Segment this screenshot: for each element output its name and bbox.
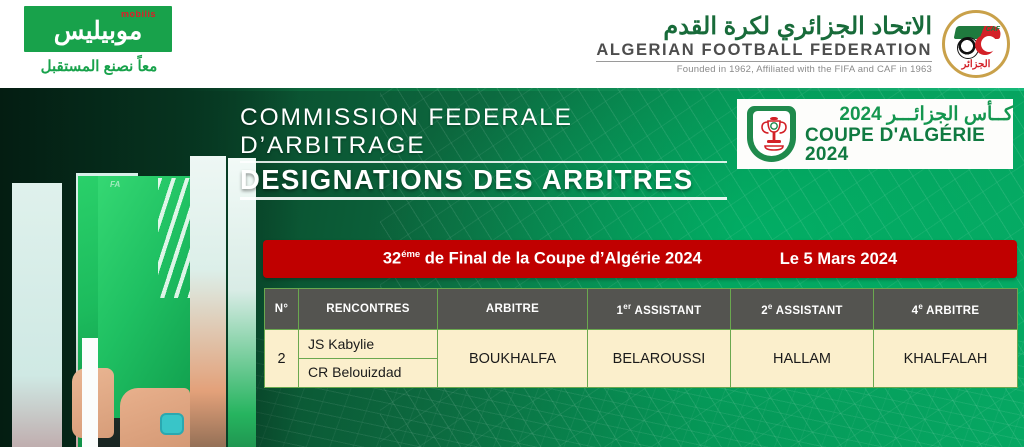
federation-header: الاتحاد الجزائري لكرة القدم ALGERIAN FOO… [596,4,1010,84]
crest-caf-label: CAF [986,26,1000,33]
federation-founded-line: Founded in 1962, Affiliated with the FIF… [596,64,932,75]
banner-titles: COMMISSION FEDERALE D’ARBITRAGE DESIGNAT… [240,104,740,200]
crest-arabic-label: الجزائر [945,59,1007,70]
federation-crest-icon: CAF الجزائر [942,10,1010,78]
crescent-star-icon [975,35,995,55]
commission-title: COMMISSION FEDERALE D’ARBITRAGE [240,104,740,160]
column-header-fourth-official: 4e ARBITRE [874,289,1018,330]
cup-logo-text: كــأس الجزائـــر 2024 COUPE D'ALGÉRIE 20… [805,105,1013,164]
round-number: 32 [383,250,401,268]
photo-jersey-badge: FA [110,180,120,189]
column-header-assistant1: 1er ASSISTANT [588,289,731,330]
table-header: N° RENCONTRES ARBITRE 1er ASSISTANT 2e A… [265,289,1018,330]
table-body: 2 JS Kabylie CR Belouizdad BOUKHALFA BEL… [265,330,1018,388]
cell-matchup: JS Kabylie CR Belouizdad [299,330,438,388]
cell-assistant1: BELAROUSSI [588,330,731,388]
coupe-dalgerie-logo: كــأس الجزائـــر 2024 COUPE D'ALGÉRIE 20… [737,99,1013,169]
cell-match-number: 2 [265,330,299,388]
mobilis-wordmark-arabic: موبيليس [24,15,172,47]
round-ordinal-suffix: éme [401,249,420,260]
column-header-number: N° [265,289,299,330]
mobilis-tagline: معاً نصنع المستقبل [24,57,174,75]
column-header-referee: ARBITRE [438,289,588,330]
team-home: JS Kabylie [299,331,437,359]
cup-title-french: COUPE D'ALGÉRIE 2024 [805,126,1013,164]
assistant2-text: ASSISTANT [773,304,843,316]
trophy-icon [760,115,788,153]
column-header-assistant2: 2e ASSISTANT [731,289,874,330]
cell-referee: BOUKHALFA [438,330,588,388]
federation-name-arabic: الاتحاد الجزائري لكرة القدم [596,14,932,40]
table-header-row: N° RENCONTRES ARBITRE 1er ASSISTANT 2e A… [265,289,1018,330]
referee-photo-collage: FA [0,88,260,447]
assistant2-number: 2 [761,304,768,316]
federation-name-english: ALGERIAN FOOTBALL FEDERATION [596,40,932,62]
photo-white-divider-1 [82,338,98,447]
designation-poster: mobilis موبيليس معاً نصنع المستقبل الاتح… [0,0,1024,447]
mobilis-logo-box: mobilis موبيليس [24,6,172,52]
team-away: CR Belouizdad [299,359,437,386]
assistant1-text: ASSISTANT [631,304,701,316]
designations-table: N° RENCONTRES ARBITRE 1er ASSISTANT 2e A… [264,288,1018,388]
cup-title-arabic: كــأس الجزائـــر 2024 [805,105,1013,124]
designations-title: DESIGNATIONS DES ARBITRES [240,165,740,195]
photo-strip-1 [12,183,62,447]
column-header-matches: RENCONTRES [299,289,438,330]
match-date: Le 5 Mars 2024 [780,250,897,269]
photo-strip-4 [228,158,256,447]
title-divider-2 [240,197,727,200]
fourth-text: ARBITRE [923,304,979,316]
mobilis-logo: mobilis موبيليس معاً نصنع المستقبل [24,6,174,75]
round-competition: de Final de la Coupe d’Algérie 2024 [420,250,702,268]
title-divider-1 [240,161,727,163]
table-row: 2 JS Kabylie CR Belouizdad BOUKHALFA BEL… [265,330,1018,388]
round-label: 32éme de Final de la Coupe d’Algérie 202… [383,249,702,269]
top-header: mobilis موبيليس معاً نصنع المستقبل الاتح… [0,0,1024,88]
cup-shield-icon [747,106,796,162]
cell-fourth-official: KHALFALAH [874,330,1018,388]
photo-referee-watch [160,413,184,435]
cell-assistant2: HALLAM [731,330,874,388]
photo-strip-3 [190,156,226,447]
federation-text-block: الاتحاد الجزائري لكرة القدم ALGERIAN FOO… [596,14,932,75]
match-round-bar: 32éme de Final de la Coupe d’Algérie 202… [263,240,1017,278]
